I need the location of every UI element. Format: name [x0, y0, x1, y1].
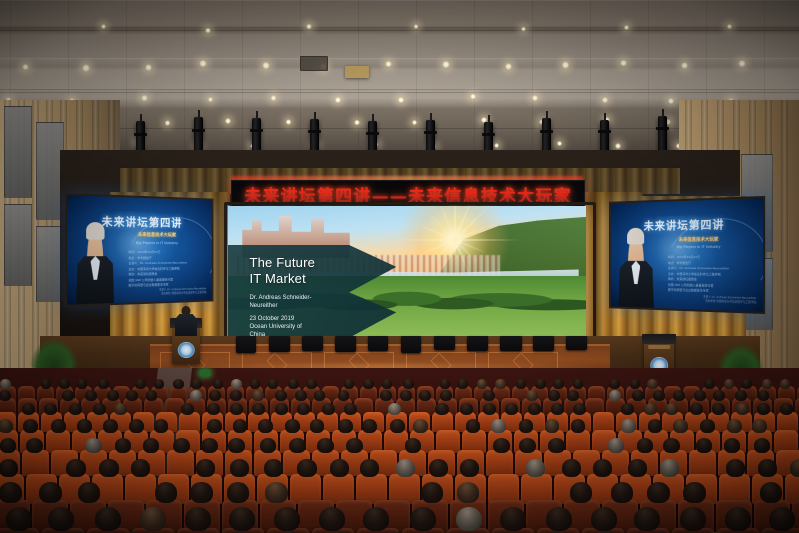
- audience-member: [663, 438, 680, 453]
- stage-monitor-speaker: [401, 336, 421, 353]
- audience-member: [181, 403, 194, 415]
- downlight-icon: [557, 141, 562, 146]
- downlight-icon: [262, 62, 269, 69]
- audience-member: [466, 419, 481, 433]
- audience-member: [103, 419, 118, 433]
- audience-member: [660, 459, 679, 477]
- audience-member: [252, 403, 265, 415]
- downlight-icon: [145, 64, 152, 71]
- side-screen-right-footer: 主讲人 Dr. Andreas Schneider-Neureither 主办单…: [703, 296, 756, 306]
- slide-title: The Future IT Market: [249, 255, 315, 286]
- audience-member: [696, 438, 713, 453]
- slide-title-line1: The Future: [249, 255, 315, 270]
- audience-member: [546, 507, 572, 531]
- downlight-icon: [602, 97, 608, 103]
- stage-monitor-speaker: [335, 336, 356, 352]
- downlight-icon: [494, 143, 499, 148]
- audience-member: [457, 482, 479, 503]
- audience-member: [360, 459, 379, 477]
- side-screen-left: 未来讲坛第四讲 未来信息技术大玩家 Big Players in IT Indu…: [65, 193, 213, 307]
- audience-area: [0, 368, 799, 533]
- downlight-icon: [414, 24, 418, 28]
- audience-member: [201, 438, 218, 453]
- audience-member: [258, 419, 273, 433]
- stage-monitor-speaker: [434, 336, 455, 350]
- ceiling-panel-line: [474, 0, 475, 175]
- speaker-at-podium: [174, 306, 198, 336]
- audience-member: [680, 507, 706, 531]
- downlight-icon: [165, 120, 171, 126]
- stage-monitor-speaker: [533, 336, 554, 351]
- audience-member: [790, 459, 799, 477]
- downlight-icon: [398, 97, 404, 103]
- university-seal-icon: [178, 342, 195, 359]
- audience-member: [78, 482, 100, 503]
- audience-member: [634, 507, 660, 531]
- audience-member: [647, 482, 669, 503]
- downlight-icon: [442, 61, 449, 68]
- audience-member: [493, 438, 510, 453]
- downlight-icon: [335, 97, 341, 103]
- audience-member: [456, 507, 482, 531]
- audience-member: [726, 459, 745, 477]
- downlight-icon: [199, 60, 206, 67]
- audience-member: [227, 482, 249, 503]
- ceiling-panel-line: [184, 0, 185, 175]
- audience-member: [611, 482, 633, 503]
- downlight-icon: [82, 64, 90, 72]
- audience-member: [173, 438, 190, 453]
- audience-member: [413, 419, 428, 433]
- downlight-icon: [668, 98, 674, 104]
- audience-member: [648, 419, 663, 433]
- slide-date: 23 October 2019: [249, 315, 301, 323]
- audience-member: [528, 403, 541, 415]
- audience-member: [673, 419, 688, 433]
- ceiling-panel-line: [126, 0, 127, 175]
- downlight-icon: [225, 118, 231, 124]
- audience-member: [143, 438, 160, 453]
- audience-member: [727, 419, 742, 433]
- audience-member: [99, 459, 118, 477]
- sun-ray: [455, 239, 521, 241]
- audience-member: [545, 419, 560, 433]
- podium-top-surface: [642, 334, 677, 344]
- audience-member: [0, 482, 22, 503]
- audience-member: [725, 507, 751, 531]
- audience-member: [769, 507, 795, 531]
- audience-member: [551, 403, 564, 415]
- downlight-icon: [624, 25, 629, 30]
- stage-monitor-speaker: [269, 336, 290, 352]
- side-screen-right-body: 时间：2019年10月23日地点：学术报告厅主讲人：Dr. Andreas Sc…: [668, 255, 755, 296]
- audience-member: [562, 459, 581, 477]
- audience-member: [396, 459, 415, 477]
- downlight-icon: [615, 143, 621, 149]
- audience-member: [154, 419, 169, 433]
- slide-org-line1: Ocean University of: [249, 323, 301, 331]
- ceiling-panel-line: [300, 0, 301, 175]
- audience-member: [310, 419, 325, 433]
- audience-member: [519, 419, 534, 433]
- portrait-hair: [627, 227, 644, 244]
- audience-member: [410, 507, 436, 531]
- audience-member: [690, 403, 703, 415]
- audience-member: [0, 419, 13, 433]
- downlight-icon: [505, 63, 512, 70]
- audience-member: [207, 403, 220, 415]
- acoustic-panel: [4, 106, 32, 198]
- seat-row: [0, 514, 799, 533]
- exit-sign-icon: [200, 370, 210, 376]
- stage-monitor-speaker: [302, 336, 323, 351]
- side-screen-right: 未来讲坛第四讲 未来信息技术大玩家 Big Players in IT Indu…: [609, 196, 765, 314]
- audience-member: [628, 459, 647, 477]
- led-banner: 未来讲坛第四讲——未来信息技术大玩家: [231, 180, 585, 208]
- ceiling-panel-line: [590, 0, 591, 175]
- downlight-icon: [205, 28, 210, 33]
- audience-member: [593, 459, 612, 477]
- audience-member: [460, 403, 473, 415]
- audience-member: [319, 507, 345, 531]
- audience-member: [131, 459, 150, 477]
- downlight-icon: [354, 120, 360, 126]
- audience-member: [196, 459, 215, 477]
- audience-member: [190, 482, 212, 503]
- audience-member: [285, 419, 300, 433]
- audience-member: [519, 438, 536, 453]
- ceiling-panel-line: [358, 0, 359, 175]
- downlight-icon: [208, 97, 214, 103]
- side-screen-left-subtitle-en: Big Players in IT Industry: [136, 241, 178, 245]
- audience-member: [346, 438, 363, 453]
- audience-member: [665, 403, 678, 415]
- side-screen-left-subtitle-cn: 未来信息技术大玩家: [138, 232, 176, 238]
- presentation-slide: The Future IT Market Dr. Andreas Schneid…: [228, 206, 586, 336]
- ceiling-panel-line: [648, 0, 649, 175]
- audience-member: [39, 482, 61, 503]
- speaker-body: [175, 314, 197, 336]
- audience-member: [289, 438, 306, 453]
- stage-plant-left: [30, 338, 78, 368]
- audience-member: [228, 438, 245, 453]
- audience-member: [758, 459, 777, 477]
- audience-member: [683, 482, 705, 503]
- downlight-icon: [727, 24, 732, 29]
- audience-member: [338, 419, 353, 433]
- audience-member: [571, 419, 586, 433]
- audience-member: [85, 438, 102, 453]
- audience-member: [129, 419, 144, 433]
- audience-member: [644, 403, 657, 415]
- audience-member: [265, 482, 287, 503]
- audience-member: [185, 507, 211, 531]
- podium-nameplate-right: [648, 345, 670, 349]
- downlight-icon: [101, 24, 106, 29]
- stage-monitor-speaker: [236, 336, 256, 353]
- audience-member: [388, 403, 401, 415]
- audience-member: [435, 403, 448, 415]
- audience-member: [429, 459, 448, 477]
- downlight-icon: [738, 60, 745, 67]
- audience-member: [275, 403, 288, 415]
- audience-member: [155, 482, 177, 503]
- audience-member: [421, 482, 443, 503]
- audience-member: [22, 403, 35, 415]
- audience-member: [95, 507, 121, 531]
- speaker-portrait: [75, 224, 115, 305]
- audience-member: [363, 507, 389, 531]
- side-screen-left-body: 时间：2019年10月23日地点：学术报告厅主讲人：Dr. Andreas Sc…: [128, 250, 205, 289]
- side-screen-left-footer: 主讲人 Dr. Andreas Schneider-Neureither 主办单…: [159, 287, 206, 296]
- audience-member: [573, 403, 586, 415]
- audience-member: [264, 459, 283, 477]
- audience-member: [591, 507, 617, 531]
- audience-member: [500, 507, 526, 531]
- audience-member: [712, 403, 725, 415]
- audience-member: [93, 403, 106, 415]
- sun-ray: [394, 239, 455, 241]
- audience-member: [51, 419, 66, 433]
- audience-member: [344, 403, 357, 415]
- audience-member: [405, 438, 422, 453]
- ceiling-panel-line: [242, 0, 243, 175]
- stage-monitor-speaker: [566, 336, 587, 350]
- slide-meta: 23 October 2019 Ocean University of Chin…: [249, 315, 301, 336]
- audience-member: [229, 507, 255, 531]
- footer-line-2: 主办单位 中国海洋大学信息科学与工程学院: [159, 291, 206, 296]
- stage-monitor-speaker: [467, 336, 488, 351]
- audience-member: [115, 438, 132, 453]
- slide-title-line2: IT Market: [249, 271, 315, 286]
- audience-member: [362, 419, 377, 433]
- audience-member: [754, 438, 771, 453]
- stage-monitor-speaker: [368, 336, 388, 351]
- audience-member: [23, 419, 38, 433]
- downlight-icon: [532, 95, 538, 101]
- audience-member: [297, 459, 316, 477]
- slide-author-line2: Neureither: [249, 302, 311, 310]
- side-screen-right-subtitle-cn: 未来信息技术大玩家: [679, 236, 719, 242]
- audience-member: [757, 403, 770, 415]
- audience-member: [700, 419, 715, 433]
- downlight-icon: [271, 95, 277, 101]
- ceiling-projector-left: [345, 66, 369, 78]
- audience-member: [297, 403, 310, 415]
- audience-member: [526, 459, 545, 477]
- audience-member: [621, 419, 636, 433]
- audience-member: [780, 403, 793, 415]
- auditorium-photo: 未来讲坛第四讲——未来信息技术大玩家 The Future IT Market …: [0, 0, 799, 533]
- audience-member: [505, 403, 518, 415]
- main-projection-screen: The Future IT Market Dr. Andreas Schneid…: [228, 206, 586, 336]
- audience-member: [390, 419, 405, 433]
- audience-member: [330, 459, 349, 477]
- audience-member: [0, 459, 18, 477]
- audience-member: [736, 403, 749, 415]
- audience-member: [322, 403, 335, 415]
- audience-member: [724, 438, 741, 453]
- portrait-hair: [86, 222, 104, 240]
- audience-member: [548, 438, 565, 453]
- audience-member: [317, 438, 334, 453]
- downlight-icon: [141, 95, 147, 101]
- audience-member: [140, 507, 166, 531]
- audience-member: [608, 438, 625, 453]
- audience-member: [460, 459, 479, 477]
- audience-member: [752, 419, 767, 433]
- audience-member: [637, 438, 654, 453]
- audience-member: [114, 403, 127, 415]
- side-screen-right-subtitle-en: Big Players in IT Industry: [677, 245, 721, 249]
- slide-author-line1: Dr. Andreas Schneider-: [249, 294, 311, 302]
- audience-member: [44, 403, 57, 415]
- audience-member: [48, 507, 74, 531]
- audience-member: [77, 419, 92, 433]
- audience-member: [69, 403, 82, 415]
- slide-author: Dr. Andreas Schneider- Neureither: [249, 294, 311, 310]
- audience-member: [0, 438, 16, 453]
- audience-member: [491, 419, 506, 433]
- acoustic-panel: [4, 204, 32, 286]
- ceiling-panel-line: [532, 0, 533, 175]
- audience-member: [6, 507, 32, 531]
- stage-monitor-speaker: [500, 336, 522, 351]
- audience-member: [26, 438, 43, 453]
- sun-ray: [422, 207, 455, 240]
- audience-member: [230, 459, 249, 477]
- led-banner-text: 未来讲坛第四讲——未来信息技术大玩家: [244, 182, 572, 207]
- audience-member: [483, 403, 496, 415]
- downlight-icon: [286, 119, 292, 125]
- audience-member: [230, 403, 243, 415]
- audience-member: [207, 419, 222, 433]
- audience-member: [274, 507, 300, 531]
- downlight-icon: [562, 61, 569, 68]
- downlight-icon: [681, 62, 688, 69]
- audience-member: [621, 403, 634, 415]
- audience-member: [570, 482, 592, 503]
- speaker-portrait: [618, 230, 655, 308]
- side-screen-right-title: 未来讲坛第四讲: [644, 216, 725, 234]
- audience-member: [760, 482, 782, 503]
- audience-member: [260, 438, 277, 453]
- audience-member: [66, 459, 85, 477]
- audience-member: [233, 419, 248, 433]
- downlight-icon: [306, 24, 311, 29]
